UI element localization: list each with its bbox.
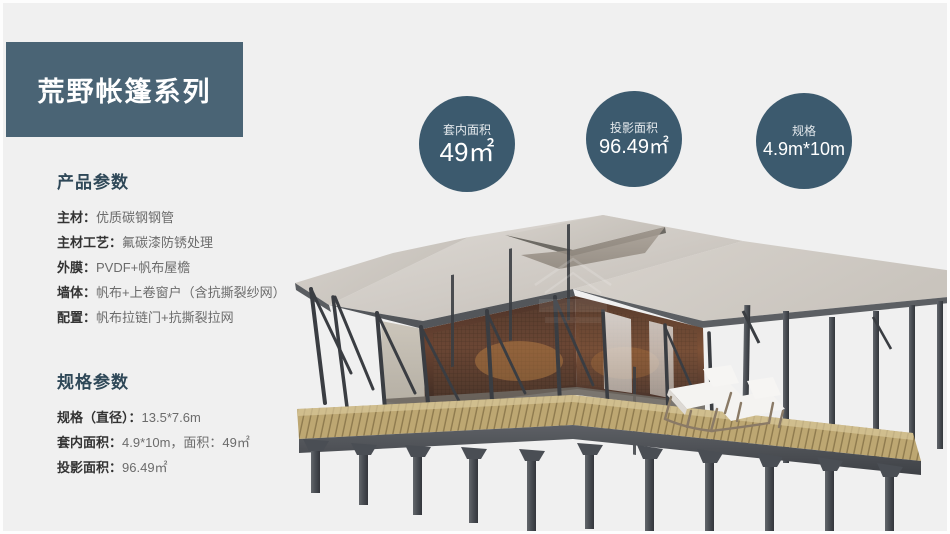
- spec-label: 套内面积：: [57, 435, 122, 450]
- stat-value: 96.49㎡: [599, 137, 669, 157]
- stat-label: 投影面积: [610, 121, 658, 135]
- spec-label: 投影面积：: [57, 460, 122, 475]
- title-banner: 荒野帐篷系列: [6, 42, 243, 137]
- spec-label: 主材：: [57, 210, 96, 225]
- spec-label: 墙体：: [57, 285, 96, 300]
- tent-render-image: [273, 193, 950, 534]
- stat-label: 规格: [792, 124, 816, 138]
- spec-label: 配置：: [57, 310, 96, 325]
- spec-label: 外膜：: [57, 260, 96, 275]
- spec-value: PVDF+帆布屋檐: [96, 260, 190, 275]
- stat-circle-interior-area[interactable]: 套内面积 49㎡: [419, 96, 515, 192]
- stat-value: 4.9m*10m: [763, 140, 845, 158]
- spec-value: 96.49㎡: [122, 460, 168, 475]
- spec-value: 帆布+上卷窗户（含抗撕裂纱网）: [96, 285, 286, 300]
- stat-circle-projected-area[interactable]: 投影面积 96.49㎡: [586, 91, 682, 187]
- spec-value: 帆布拉链门+抗撕裂拉网: [96, 310, 234, 325]
- spec-label: 主材工艺：: [57, 235, 122, 250]
- spec-value: 4.9*10m，面积：49㎡: [122, 435, 250, 450]
- spec-label: 规格（直径）：: [57, 410, 142, 425]
- spec-value: 优质碳钢钢管: [96, 210, 174, 225]
- spec-value: 13.5*7.6m: [142, 410, 201, 425]
- stat-circle-dimensions[interactable]: 规格 4.9m*10m: [756, 93, 852, 189]
- slide-root: 荒野帐篷系列 产品参数 主材：优质碳钢钢管 主材工艺：氟碳漆防锈处理 外膜：PV…: [0, 0, 950, 534]
- spec-value: 氟碳漆防锈处理: [122, 235, 213, 250]
- page-title: 荒野帐篷系列: [38, 70, 212, 109]
- section-heading-product: 产品参数: [57, 168, 357, 193]
- stat-value: 49㎡: [440, 139, 495, 165]
- stat-label: 套内面积: [443, 123, 491, 137]
